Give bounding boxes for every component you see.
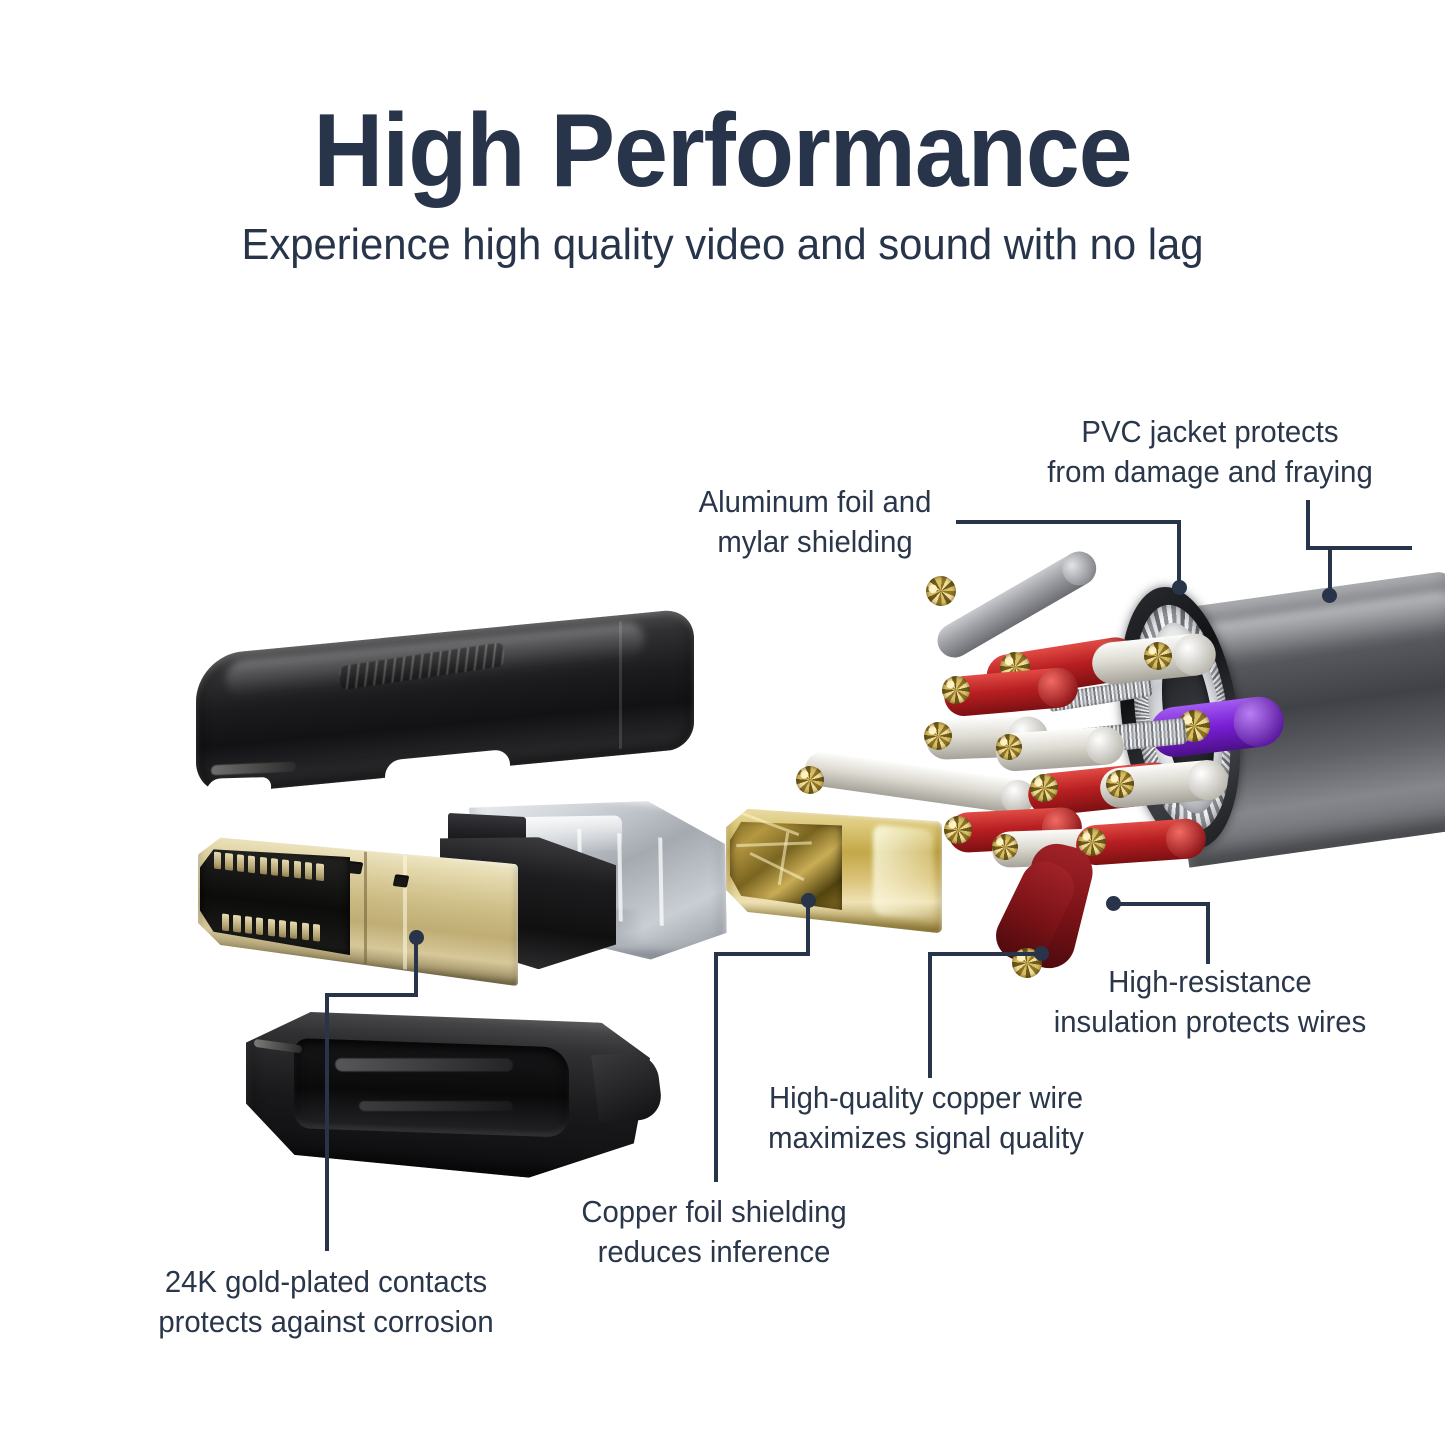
copper-strands-red — [942, 676, 970, 704]
leader-gold-contacts-v2 — [325, 993, 329, 1251]
callout-aluminum-foil-line2: mylar shielding — [666, 522, 964, 562]
leader-dot-aluminum-foil — [1172, 580, 1187, 595]
cover-top-seam — [619, 621, 622, 750]
cable-cross-section — [900, 560, 1445, 980]
leader-high-resistance-h — [1112, 902, 1210, 906]
copper-strands-red — [1030, 774, 1058, 802]
leader-pvc-jacket-v2 — [1328, 546, 1332, 594]
callout-high-resistance-line1: High-resistance — [1037, 962, 1383, 1002]
copper-strands-grey-upper — [921, 571, 962, 612]
cradle-ridge — [335, 1058, 513, 1071]
callout-gold-contacts: 24K gold-plated contacts protects agains… — [147, 1262, 504, 1343]
callout-copper-wire-line1: High-quality copper wire — [753, 1078, 1099, 1118]
hdmi-shell-band — [403, 855, 407, 970]
callout-copper-foil: Copper foil shielding reduces inference — [570, 1192, 858, 1273]
copper-strands-white — [1106, 770, 1134, 798]
callout-high-resistance-line2: insulation protects wires — [1037, 1002, 1383, 1042]
cradle-well — [294, 1038, 569, 1137]
callout-pvc-jacket: PVC jacket protects from damage and fray… — [1028, 412, 1393, 493]
leader-pvc-jacket-h — [1306, 546, 1412, 550]
leader-copper-wire-h — [928, 952, 1041, 956]
cover-top-notch-small — [205, 777, 271, 803]
copper-strands-white — [996, 734, 1022, 760]
leader-copper-foil-h — [714, 952, 810, 956]
copper-strands-white — [992, 834, 1018, 860]
callout-pvc-jacket-line2: from damage and fraying — [1028, 452, 1393, 492]
callout-gold-contacts-line2: protects against corrosion — [147, 1302, 504, 1342]
callout-copper-foil-line2: reduces inference — [570, 1232, 858, 1272]
callout-aluminum-foil: Aluminum foil and mylar shielding — [666, 482, 964, 563]
hdmi-bottom-cradle-shell — [246, 998, 650, 1186]
leader-dot-copper-wire — [1034, 946, 1049, 961]
leader-dot-pvc-jacket — [1322, 588, 1337, 603]
callout-pvc-jacket-line1: PVC jacket protects — [1028, 412, 1393, 452]
infographic-page: High Performance Experience high quality… — [0, 0, 1445, 1445]
hdmi-pin-array — [214, 852, 342, 945]
leader-aluminum-foil-v — [1177, 520, 1181, 586]
cradle-ridge — [359, 1101, 513, 1111]
leader-dot-gold-contacts — [409, 930, 424, 945]
callout-high-resistance: High-resistance insulation protects wire… — [1037, 962, 1383, 1043]
leader-copper-foil-v2 — [714, 952, 718, 1182]
callout-copper-foil-line1: Copper foil shielding — [570, 1192, 858, 1232]
copper-strands-white — [924, 722, 952, 750]
leader-dot-high-resistance — [1106, 896, 1121, 911]
cradle-right-tip — [592, 1052, 664, 1123]
copper-strands-white — [1144, 642, 1172, 670]
callout-gold-contacts-line1: 24K gold-plated contacts — [147, 1262, 504, 1302]
callout-aluminum-foil-line1: Aluminum foil and — [666, 482, 964, 522]
hdmi-shell-dimple — [393, 874, 410, 887]
leader-pvc-jacket-v1 — [1306, 500, 1310, 548]
leader-dot-copper-foil — [801, 893, 816, 908]
callout-copper-wire-line2: maximizes signal quality — [753, 1118, 1099, 1158]
leader-copper-wire-v — [928, 952, 932, 1078]
leader-aluminum-foil-h — [956, 520, 1181, 524]
copper-strands-white-lower — [796, 766, 824, 794]
leader-gold-contacts-h — [325, 993, 418, 997]
copper-strands-red — [944, 816, 972, 844]
hdmi-shell-band — [364, 852, 367, 965]
callout-copper-wire: High-quality copper wire maximizes signa… — [753, 1078, 1099, 1159]
leader-high-resistance-v — [1206, 902, 1210, 964]
hdmi-top-cover-shell — [196, 608, 694, 796]
